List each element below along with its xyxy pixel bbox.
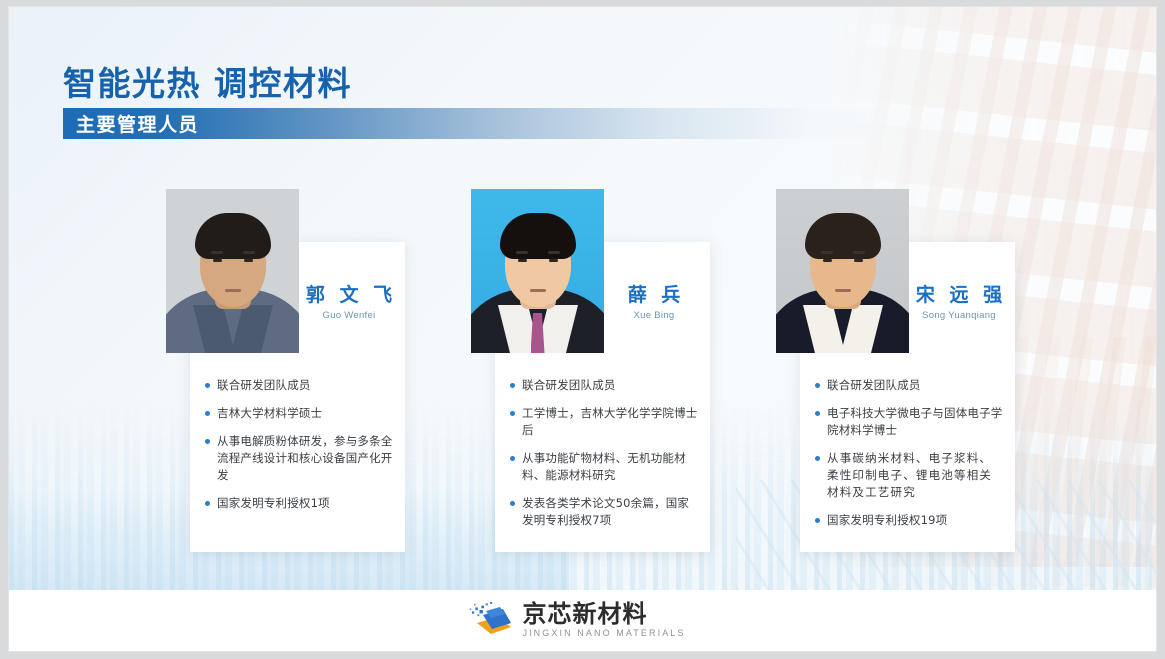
bullet-dot-icon [510,456,515,461]
list-item-label: 国家发明专利授权1项 [217,495,330,512]
list-item-label: 吉林大学材料学硕士 [217,405,322,422]
person-card[interactable]: 郭 文 飞 Guo Wenfei 联合研发团队成员 吉林大学材料学硕士 从事电解… [190,242,405,552]
list-item: 电子科技大学微电子与固体电子学院材料学博士 [815,405,1004,439]
person-name-cn: 宋 远 强 [908,284,1010,308]
avatar [776,189,909,353]
person-card[interactable]: 薛 兵 Xue Bing 联合研发团队成员 工学博士，吉林大学化学学院博士后 从… [495,242,710,552]
list-item: 国家发明专利授权1项 [205,495,394,512]
person-name-en: Xue Bing [603,310,705,321]
person-card-group: 郭 文 飞 Guo Wenfei 联合研发团队成员 吉林大学材料学硕士 从事电解… [9,7,1156,651]
bullet-dot-icon [510,383,515,388]
bullet-dot-icon [205,501,210,506]
person-bio-list: 联合研发团队成员 吉林大学材料学硕士 从事电解质粉体研发，参与多条全流程产线设计… [205,377,394,523]
list-item: 从事功能矿物材料、无机功能材料、能源材料研究 [510,450,699,484]
list-item: 联合研发团队成员 [205,377,394,394]
bullet-dot-icon [205,383,210,388]
company-logo: 京芯新材料 JINGXIN NANO MATERIALS [467,601,685,641]
bullet-dot-icon [815,518,820,523]
person-name-en: Guo Wenfei [298,310,400,321]
list-item-label: 电子科技大学微电子与固体电子学院材料学博士 [827,405,1004,439]
list-item: 从事电解质粉体研发，参与多条全流程产线设计和核心设备国产化开发 [205,433,394,484]
bullet-dot-icon [815,383,820,388]
list-item-label: 发表各类学术论文50余篇，国家发明专利授权7项 [522,495,699,529]
list-item-label: 从事功能矿物材料、无机功能材料、能源材料研究 [522,450,699,484]
bullet-dot-icon [510,501,515,506]
list-item: 联合研发团队成员 [510,377,699,394]
person-name-cn: 薛 兵 [603,284,705,308]
avatar [166,189,299,353]
person-name-block: 郭 文 飞 Guo Wenfei [298,284,400,321]
bullet-dot-icon [205,411,210,416]
list-item: 国家发明专利授权19项 [815,512,1004,529]
person-name-cn: 郭 文 飞 [298,284,400,308]
slide-canvas: 智能光热 调控材料 主要管理人员 [9,7,1156,651]
bullet-dot-icon [815,456,820,461]
list-item: 联合研发团队成员 [815,377,1004,394]
company-name-en: JINGXIN NANO MATERIALS [522,629,685,639]
company-name-cn: 京芯新材料 [522,602,685,627]
person-name-block: 宋 远 强 Song Yuanqiang [908,284,1010,321]
person-card[interactable]: 宋 远 强 Song Yuanqiang 联合研发团队成员 电子科技大学微电子与… [800,242,1015,552]
list-item: 吉林大学材料学硕士 [205,405,394,422]
bullet-dot-icon [815,411,820,416]
list-item-label: 联合研发团队成员 [522,377,616,394]
person-name-en: Song Yuanqiang [908,310,1010,321]
person-name-block: 薛 兵 Xue Bing [603,284,705,321]
footer: 京芯新材料 JINGXIN NANO MATERIALS [9,590,1156,651]
list-item: 工学博士，吉林大学化学学院博士后 [510,405,699,439]
jingxin-logo-icon [467,601,513,641]
list-item-label: 从事碳纳米材料、电子浆料、柔性印制电子、锂电池等相关材料及工艺研究 [827,450,1004,501]
list-item: 发表各类学术论文50余篇，国家发明专利授权7项 [510,495,699,529]
list-item-label: 国家发明专利授权19项 [827,512,947,529]
bullet-dot-icon [205,439,210,444]
list-item-label: 联合研发团队成员 [217,377,311,394]
list-item-label: 联合研发团队成员 [827,377,921,394]
bullet-dot-icon [510,411,515,416]
person-bio-list: 联合研发团队成员 电子科技大学微电子与固体电子学院材料学博士 从事碳纳米材料、电… [815,377,1004,540]
list-item: 从事碳纳米材料、电子浆料、柔性印制电子、锂电池等相关材料及工艺研究 [815,450,1004,501]
list-item-label: 工学博士，吉林大学化学学院博士后 [522,405,699,439]
avatar [471,189,604,353]
person-bio-list: 联合研发团队成员 工学博士，吉林大学化学学院博士后 从事功能矿物材料、无机功能材… [510,377,699,540]
list-item-label: 从事电解质粉体研发，参与多条全流程产线设计和核心设备国产化开发 [217,433,394,484]
